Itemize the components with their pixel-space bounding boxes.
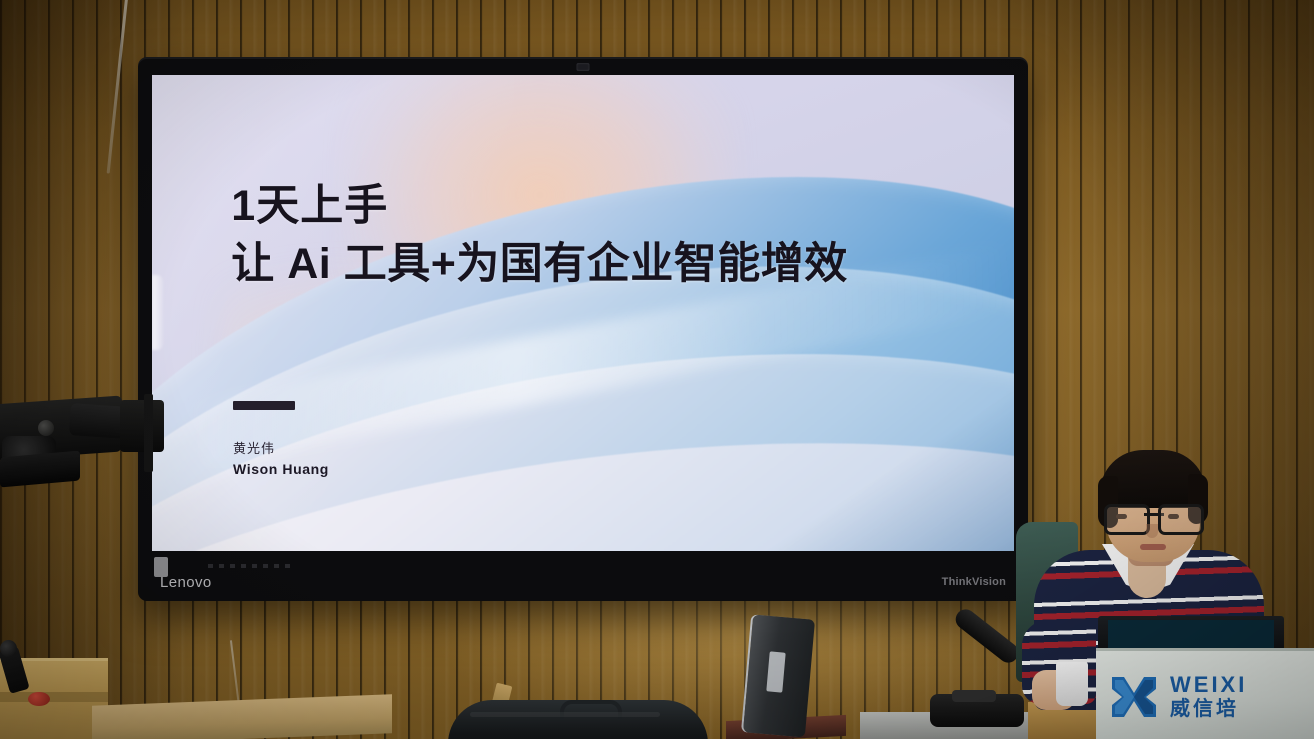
screen-edge-reflection xyxy=(152,275,163,350)
presenter-mouth xyxy=(1140,544,1166,550)
weixin-w-logo-icon xyxy=(1108,671,1160,723)
lenovo-logo: Lenovo xyxy=(160,574,212,591)
laptop-screen[interactable] xyxy=(1108,620,1274,650)
lenovo-thinkvision-display[interactable]: 1天上手 让 Ai 工具+为国有企业智能增效 黄光伟 Wison Huang L… xyxy=(138,57,1028,601)
presenter-name-cn: 黄光伟 xyxy=(233,437,329,462)
rig-bracket xyxy=(144,394,153,472)
weixin-banner: WEIXI 威信培 xyxy=(1096,648,1314,739)
lecture-room-scene: 1天上手 让 Ai 工具+为国有企业智能增效 黄光伟 Wison Huang L… xyxy=(0,0,1314,739)
banner-brand-cn: 威信培 xyxy=(1170,699,1247,719)
banner-text-block: WEIXI 威信培 xyxy=(1170,674,1247,719)
presenter-nose xyxy=(1146,524,1158,538)
backpack-strap xyxy=(470,712,660,717)
desk-microphone-base-top xyxy=(952,690,996,702)
rig-knob xyxy=(38,420,54,436)
podium-edge xyxy=(0,692,108,702)
presenter-name-en: Wison Huang xyxy=(233,461,329,477)
display-screen[interactable]: 1天上手 让 Ai 工具+为国有企业智能增效 黄光伟 Wison Huang xyxy=(152,75,1014,551)
paper-cup xyxy=(1056,662,1088,706)
slide-title-block: 1天上手 让 Ai 工具+为国有企业智能增效 xyxy=(231,184,848,286)
rig-head xyxy=(120,400,164,452)
glasses-lens-left xyxy=(1104,504,1150,535)
slide-byline: 黄光伟 Wison Huang xyxy=(233,437,329,478)
slide-accent-bar xyxy=(233,401,295,410)
webcam-icon xyxy=(577,63,590,71)
banner-brand-en: WEIXI xyxy=(1170,674,1247,696)
microphone-head-icon xyxy=(0,640,17,657)
thinkvision-logo: ThinkVision xyxy=(942,576,1006,588)
rig-clamp xyxy=(0,451,80,488)
bezel-control-dots[interactable] xyxy=(208,564,296,568)
slide-heading: 1天上手 xyxy=(231,184,848,229)
red-object xyxy=(28,692,50,706)
slide-subheading: 让 Ai 工具+为国有企业智能增效 xyxy=(231,242,848,287)
ceiling-camera-rig xyxy=(0,392,170,500)
glasses-lens-right xyxy=(1158,504,1204,535)
backpack-handle xyxy=(560,700,622,720)
